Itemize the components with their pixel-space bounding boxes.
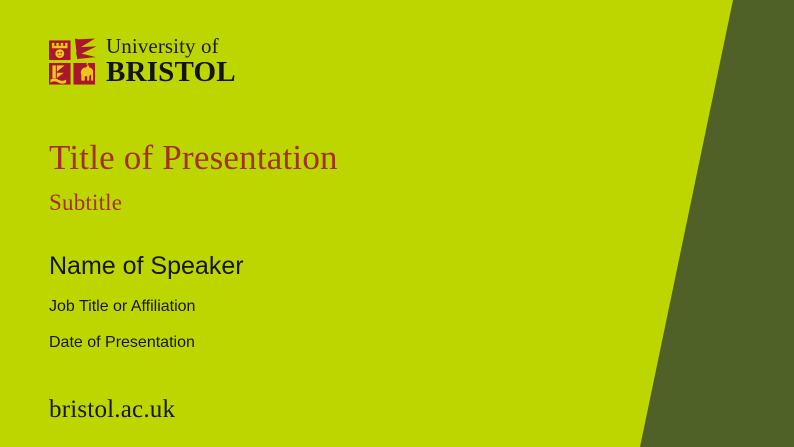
slide-subtitle: Subtitle: [49, 190, 122, 216]
wordmark-line-bristol: BRISTOL: [106, 58, 236, 87]
slide-title: Title of Presentation: [49, 138, 338, 178]
presentation-title-slide: University of BRISTOL Title of Presentat…: [0, 0, 794, 447]
footer-website-url: bristol.ac.uk: [49, 396, 175, 424]
speaker-name: Name of Speaker: [49, 252, 244, 281]
university-wordmark: University of BRISTOL: [106, 36, 236, 87]
wordmark-line-university: University of: [106, 36, 236, 57]
speaker-job-title: Job Title or Affiliation: [49, 298, 195, 316]
university-logo: University of BRISTOL: [48, 36, 236, 87]
university-crest-icon: [48, 37, 97, 87]
presentation-date: Date of Presentation: [49, 334, 195, 352]
